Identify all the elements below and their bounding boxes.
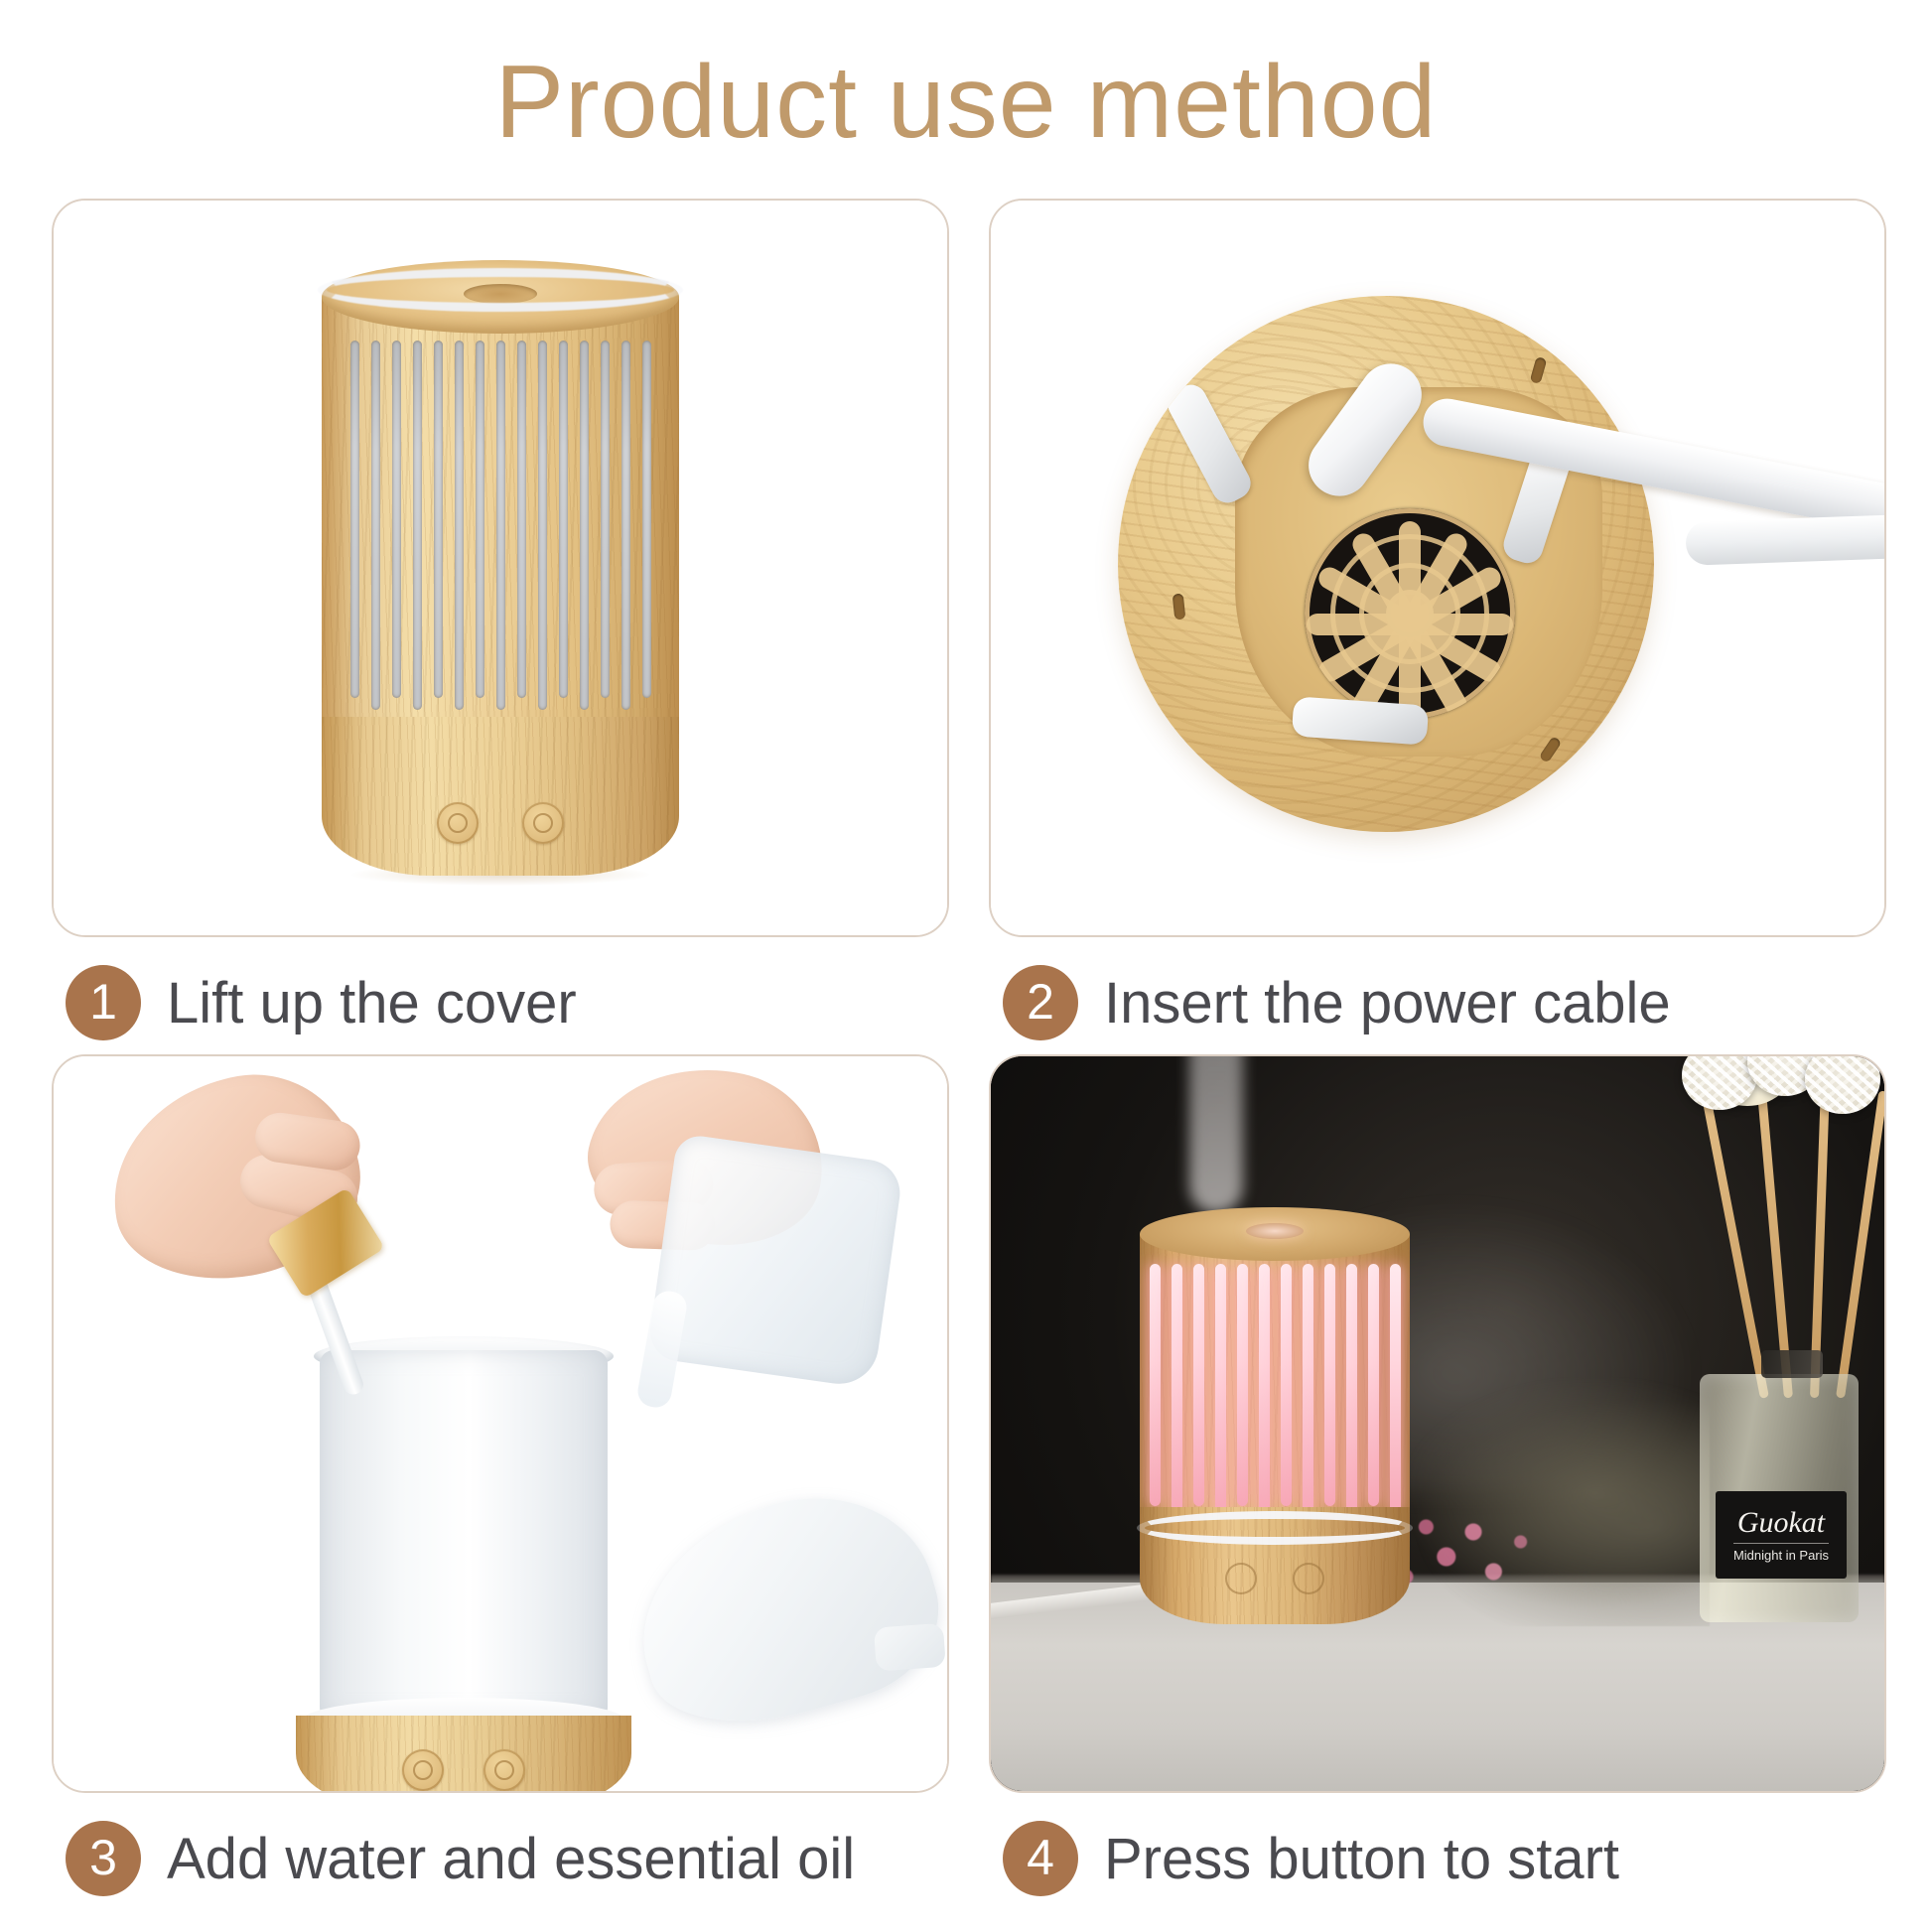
diffuser-body: [1140, 1234, 1410, 1532]
light-band: [1137, 1511, 1413, 1545]
bottle-label: Guokat Midnight in Paris: [1716, 1491, 1847, 1579]
step-number-badge: 4: [1003, 1821, 1078, 1896]
diffuser-top-cover: [1140, 1207, 1410, 1261]
diffuser-body: [322, 297, 679, 763]
lit-vent-slot: [1324, 1264, 1335, 1506]
step-caption-text: Lift up the cover: [167, 970, 577, 1036]
step-caption-text: Insert the power cable: [1104, 970, 1671, 1036]
vent-slot: [496, 341, 505, 710]
step-caption-text: Press button to start: [1104, 1826, 1619, 1892]
step-2-caption: 2 Insert the power cable: [1003, 955, 1671, 1050]
step-4-image-panel: Guokat Midnight in Paris: [989, 1054, 1886, 1793]
vent-slot: [434, 341, 443, 698]
light-band: [318, 268, 683, 312]
lit-vent-slot: [1172, 1264, 1182, 1514]
lit-vent-slot: [1281, 1264, 1292, 1506]
mist-button-icon[interactable]: [1293, 1563, 1324, 1594]
step-1-image-panel: [52, 199, 949, 937]
step-3-caption: 3 Add water and essential oil: [66, 1811, 855, 1906]
lit-vent-slot: [1390, 1264, 1401, 1514]
step-3-image-panel: [52, 1054, 949, 1793]
lit-vent-slot: [1215, 1264, 1226, 1514]
control-button-row: [1225, 1563, 1324, 1594]
lit-vent-slot: [1368, 1264, 1379, 1506]
bottle-brand-text: Guokat: [1737, 1508, 1825, 1538]
lit-diffuser-scene: Guokat Midnight in Paris: [991, 1056, 1884, 1791]
diffuser-product-lit: [1140, 1207, 1410, 1624]
vent-slot: [455, 341, 464, 710]
mist-plume: [1189, 1054, 1243, 1213]
vent-slot: [392, 341, 401, 698]
vent-slot: [601, 341, 610, 698]
water-jug: [646, 1133, 903, 1389]
vent-slot: [476, 341, 484, 698]
diffuser-product: [322, 260, 679, 876]
diffuser-closed-scene: [54, 201, 947, 935]
lit-vent-slot: [1237, 1264, 1248, 1506]
step-caption-text: Add water and essential oil: [167, 1826, 855, 1892]
vent-slot: [580, 341, 589, 710]
power-button-icon[interactable]: [437, 802, 479, 844]
power-cable-tail: [1685, 514, 1886, 566]
lit-vent-slot: [1193, 1264, 1204, 1506]
vent-slot: [559, 341, 568, 698]
bottle-neck: [1761, 1350, 1823, 1378]
vent-slot-group: [1140, 1264, 1410, 1524]
vent-slot: [371, 341, 380, 710]
power-button-icon[interactable]: [402, 1749, 444, 1791]
control-button-row: [402, 1749, 525, 1791]
wood-grain-texture: [322, 717, 679, 876]
water-tank: [320, 1350, 608, 1718]
vent-slot: [538, 341, 547, 710]
control-button-row: [437, 802, 564, 844]
diffuser-base: [322, 717, 679, 876]
inner-cover-lid: [615, 1468, 949, 1751]
page-title: Product use method: [0, 46, 1932, 159]
vent-slot: [642, 341, 651, 698]
fan-vent-icon: [1305, 508, 1515, 719]
mist-button-icon[interactable]: [522, 802, 564, 844]
bottle-scent-text: Midnight in Paris: [1733, 1543, 1829, 1562]
vent-slot: [621, 341, 630, 710]
lit-vent-slot: [1259, 1264, 1270, 1514]
lit-vent-slot: [1150, 1264, 1161, 1506]
lit-vent-slot: [1303, 1264, 1313, 1514]
vent-slot-group: [322, 341, 679, 730]
step-4-caption: 4 Press button to start: [1003, 1811, 1619, 1906]
diffuser-underside-scene: [991, 201, 1884, 935]
infographic-page: Product use method: [0, 0, 1932, 1932]
dried-flowers: [1372, 1378, 1710, 1626]
step-2-image-panel: [989, 199, 1886, 937]
step-number-badge: 2: [1003, 965, 1078, 1040]
step-1-caption: 1 Lift up the cover: [66, 955, 577, 1050]
vent-slot: [517, 341, 526, 698]
lit-vent-slot: [1346, 1264, 1357, 1514]
vent-slot: [350, 341, 359, 698]
step-number-badge: 3: [66, 1821, 141, 1896]
step-number-badge: 1: [66, 965, 141, 1040]
vent-slot: [413, 341, 422, 710]
fill-tank-scene: [54, 1056, 947, 1791]
diffuser-base: [296, 1716, 631, 1793]
power-button-icon[interactable]: [1225, 1563, 1257, 1594]
mist-button-icon[interactable]: [483, 1749, 525, 1791]
